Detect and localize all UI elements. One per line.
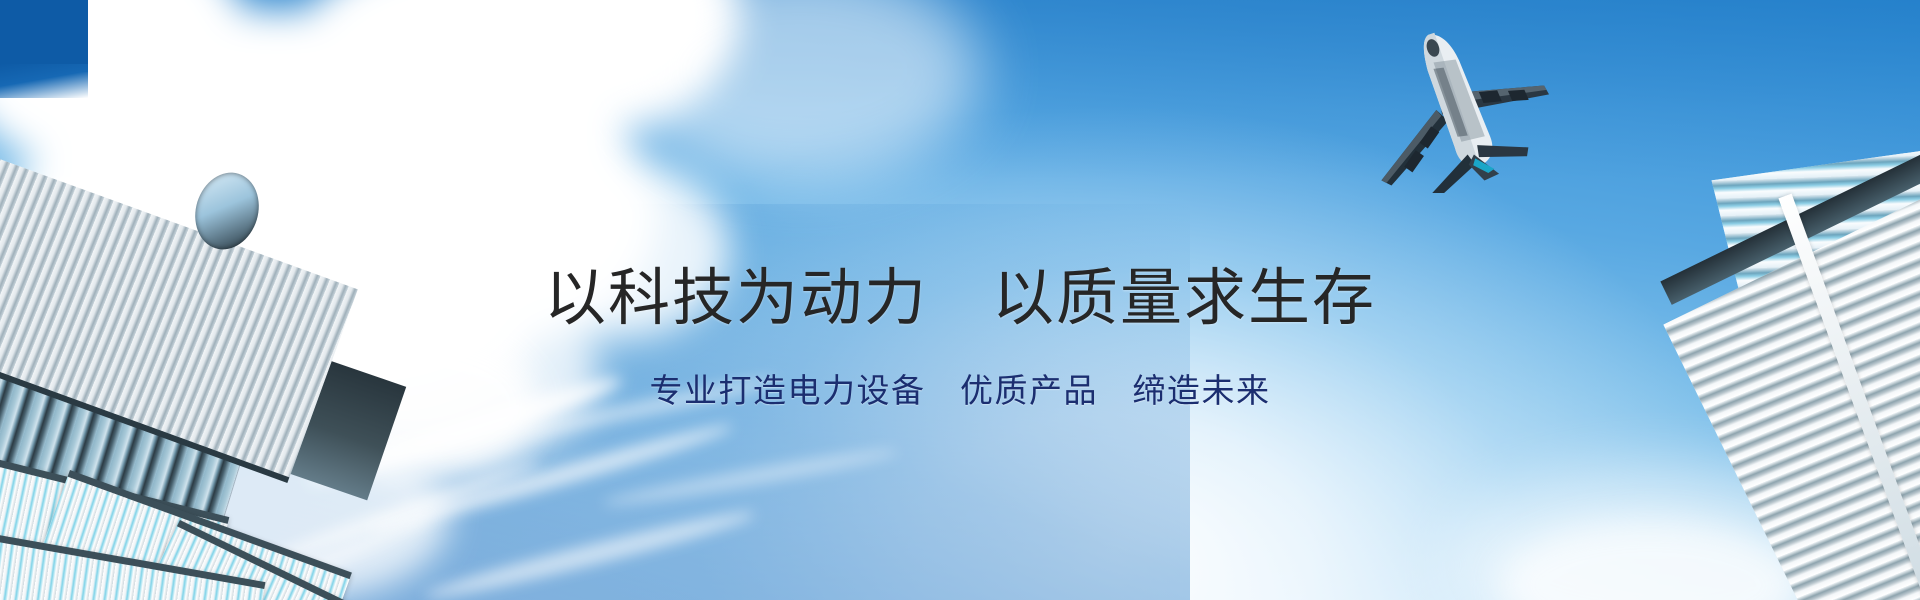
left-building [0,0,430,600]
airplane [1340,18,1570,193]
hero-banner: 以科技为动力 以质量求生存 专业打造电力设备 优质产品 缔造未来 [0,0,1920,600]
right-building [1590,0,1920,600]
